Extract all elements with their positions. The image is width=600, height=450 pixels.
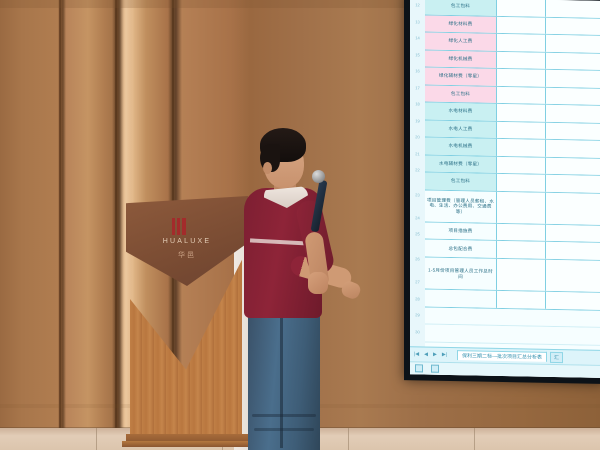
cell-value[interactable] (497, 69, 546, 86)
cell-value[interactable] (497, 191, 546, 223)
cell-value[interactable] (546, 35, 600, 53)
cell-label[interactable]: 包工包料 (425, 85, 497, 103)
cell-value[interactable] (497, 174, 546, 191)
cell-value[interactable] (546, 105, 600, 123)
hualuxe-mark-icon (172, 218, 186, 235)
cell-value[interactable] (497, 86, 546, 103)
trouser-fold (254, 428, 314, 431)
cell-value[interactable] (546, 292, 600, 310)
wall-seam (115, 0, 117, 450)
row-number[interactable]: 25 (410, 227, 425, 244)
row-header-gutter[interactable]: 1213141516171819202122232425262728293031… (410, 0, 426, 375)
row-number[interactable]: 21 (410, 146, 425, 163)
row-number[interactable]: 24 (410, 210, 425, 227)
sheet-tab-next[interactable]: 汇 (550, 351, 563, 362)
nav-first-button[interactable]: |◀ (413, 351, 420, 357)
row-number[interactable]: 19 (410, 113, 425, 130)
cell-label[interactable]: 水电材料费 (425, 102, 497, 120)
row-number[interactable]: 18 (410, 96, 425, 113)
presenter (236, 122, 386, 450)
projected-spreadsheet: 1213141516171819202122232425262728293031… (410, 0, 600, 378)
cell-value[interactable] (497, 139, 546, 156)
cell-value[interactable] (546, 260, 600, 293)
cell-value[interactable] (497, 241, 546, 258)
cell-label[interactable]: 水电人工费 (425, 120, 497, 138)
cell-label[interactable]: 水电辅材费（零星） (425, 155, 497, 173)
cell-value[interactable] (546, 192, 600, 225)
nav-next-button[interactable]: ▶ (432, 352, 438, 358)
nav-prev-button[interactable]: ◀ (423, 351, 429, 357)
cell-value[interactable] (546, 242, 600, 260)
lectern-brand-latin: HUALUXE (126, 238, 248, 245)
lectern-plinth (122, 441, 254, 447)
cell-value[interactable] (497, 121, 546, 138)
cell-label[interactable]: 项目管理费（管理人员薪租、水电、生活、办公费用、交通费等） (425, 190, 497, 223)
table-row[interactable]: 1-5月份项目管理人员工作总时间 (425, 257, 600, 293)
projection-screen: 1213141516171819202122232425262728293031… (404, 0, 600, 384)
presenter-ear (263, 162, 272, 174)
cell-value[interactable] (497, 156, 546, 173)
spreadsheet-sheet: 1213141516171819202122232425262728293031… (410, 0, 600, 378)
row-number[interactable]: 14 (410, 30, 425, 47)
cell-label[interactable]: 绿化人工费 (425, 32, 497, 50)
cell-value[interactable] (546, 0, 600, 17)
row-number[interactable]: 12 (410, 0, 425, 14)
row-number[interactable]: 28 (410, 291, 425, 308)
cell-value[interactable] (497, 291, 546, 308)
lectern-front-panel: HUALUXE 华邑 (126, 196, 248, 286)
presenter-mic-hand (308, 272, 328, 294)
view-layout-icon[interactable] (431, 365, 439, 373)
cell-value[interactable] (497, 104, 546, 121)
row-number[interactable]: 27 (410, 274, 425, 291)
floor-seam (474, 428, 475, 450)
row-number[interactable]: 23 (410, 179, 425, 211)
cell-label[interactable]: 包工包料 (425, 0, 497, 15)
cell-value[interactable] (546, 157, 600, 175)
cell-value[interactable] (497, 16, 546, 33)
presentation-photo: 1213141516171819202122232425262728293031… (0, 0, 600, 450)
cell-grid[interactable]: 包工包料绿化材料费绿化人工费绿化机械费绿化辅材费（零星）包工包料水电材料费水电人… (425, 0, 600, 378)
lectern-brand-chinese: 华邑 (126, 250, 248, 260)
row-number[interactable]: 16 (410, 63, 425, 80)
cell-label[interactable] (425, 290, 497, 308)
nav-last-button[interactable]: ▶| (441, 352, 448, 358)
wall-seam (59, 0, 61, 450)
microphone-head-icon (312, 170, 325, 183)
cell-value[interactable] (546, 87, 600, 105)
cell-value[interactable] (497, 259, 546, 291)
cell-value[interactable] (497, 34, 546, 51)
cell-label[interactable]: 绿化材料费 (425, 15, 497, 33)
cell-value[interactable] (497, 51, 546, 68)
trouser-fold (252, 414, 316, 417)
cell-value[interactable] (546, 70, 600, 88)
floor-seam (96, 428, 97, 450)
status-bar (410, 361, 600, 378)
cell-value[interactable] (546, 140, 600, 158)
row-number[interactable]: 29 (410, 307, 425, 324)
cell-label[interactable]: 1-5月份项目管理人员工作总时间 (425, 257, 497, 290)
row-number[interactable]: 20 (410, 129, 425, 146)
cell-value[interactable] (497, 224, 546, 241)
row-number[interactable]: 30 (410, 324, 425, 341)
cell-value[interactable] (546, 52, 600, 70)
cell-label[interactable]: 水电机械费 (425, 137, 497, 155)
cell-value[interactable] (546, 225, 600, 243)
cell-value[interactable] (546, 122, 600, 140)
cell-label[interactable]: 总包配合费 (425, 240, 497, 258)
row-number[interactable]: 22 (410, 162, 425, 179)
sheet-tab-active[interactable]: 保利三期二标—批次项目汇总分析表 (457, 350, 547, 362)
cell-value[interactable] (546, 175, 600, 193)
row-number[interactable]: 17 (410, 80, 425, 97)
row-number[interactable]: 15 (410, 47, 425, 64)
row-number[interactable]: 13 (410, 14, 425, 31)
cell-value[interactable] (546, 17, 600, 35)
ready-icon (415, 364, 423, 372)
table-row[interactable]: 项目管理费（管理人员薪租、水电、生活、办公费用、交通费等） (425, 190, 600, 226)
cell-label[interactable]: 项目措施费 (425, 222, 497, 240)
cell-value[interactable] (497, 0, 546, 16)
cell-label[interactable]: 绿化机械费 (425, 50, 497, 68)
row-number[interactable]: 26 (410, 243, 425, 275)
cell-label[interactable]: 包工包料 (425, 172, 497, 190)
cell-label[interactable]: 绿化辅材费（零星） (425, 67, 497, 85)
